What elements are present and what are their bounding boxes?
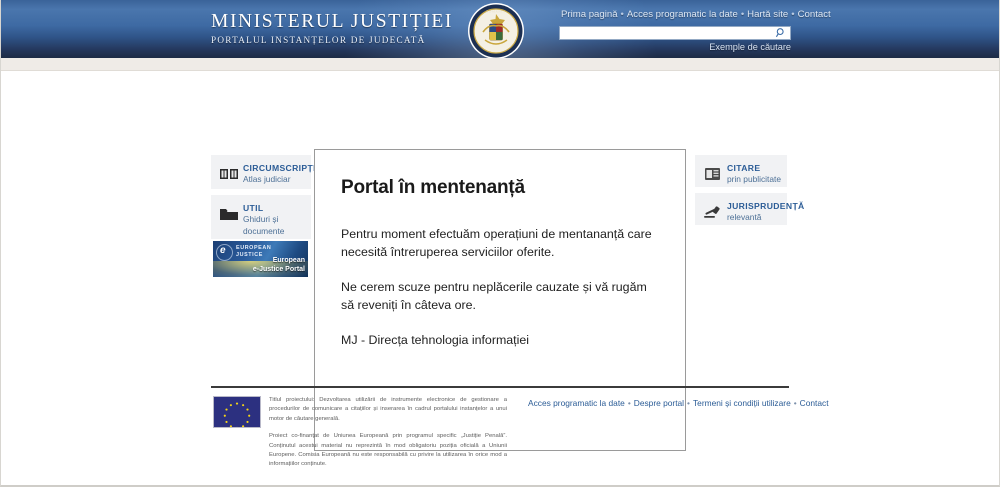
maintenance-paragraph-1: Pentru moment efectuăm operațiuni de men… (341, 225, 659, 261)
nav-separator: • (618, 9, 627, 20)
gavel-icon (703, 203, 723, 221)
footer-link-acces-programatic[interactable]: Acces programatic la date (528, 398, 625, 408)
sidebar-item-title: CIRCUMSCRIPȚII (243, 163, 319, 174)
nav-link-harta-site[interactable]: Hartă site (747, 9, 788, 20)
sidebar-item-circumscriptii[interactable]: CIRCUMSCRIPȚII Atlas judiciar (211, 155, 311, 189)
footer-paragraph-2: Proiect co-finanțat de Uniunea Europeană… (269, 432, 507, 470)
footer-project-text: Titlul proiectului: Dezvoltarea utilizăr… (269, 396, 507, 478)
footer-paragraph-1: Titlul proiectului: Dezvoltarea utilizăr… (269, 396, 507, 424)
nav-separator: • (788, 9, 797, 20)
footer-link-separator: • (791, 398, 800, 408)
sidebar-item-subtitle: Ghiduri și documente (243, 214, 301, 237)
document-citation-icon (703, 165, 723, 183)
sidebar-item-subtitle: Atlas judiciar (243, 174, 301, 186)
search-icon[interactable] (774, 27, 788, 39)
site-subtitle: PORTALUL INSTANȚELOR DE JUDECATĂ (211, 34, 453, 47)
sidebar-item-subtitle: relevantă (727, 212, 787, 224)
search-input[interactable] (560, 27, 772, 39)
search-examples-link[interactable]: Exemple de căutare (709, 42, 791, 52)
maintenance-signature: MJ - Direcța tehnologia informației (341, 331, 659, 349)
banner-caption-line2: e-Justice Portal (253, 266, 305, 273)
map-book-icon (219, 165, 239, 183)
search-box[interactable] (559, 26, 791, 40)
footer-link-despre-portal[interactable]: Despre portal (634, 398, 684, 408)
nav-link-contact[interactable]: Contact (798, 9, 831, 20)
nav-separator: • (738, 9, 747, 20)
top-navigation: Prima pagină•Acces programatic la date•H… (561, 9, 831, 20)
sidebar-item-title: CITARE (727, 163, 760, 174)
banner-e-letter: e (220, 245, 226, 257)
search-examples-hint: Exemple de căutare (561, 42, 791, 52)
footer-link-separator: • (625, 398, 634, 408)
european-union-flag-icon (213, 396, 261, 428)
site-brand[interactable]: MINISTERUL JUSTIȚIEI PORTALUL INSTANȚELO… (211, 11, 453, 47)
sidebar-item-citare[interactable]: CITARE prin publicitate (695, 155, 787, 187)
european-e-justice-banner[interactable]: e EUROPEANJUSTICE European e-Justice Por… (213, 241, 308, 277)
site-title: MINISTERUL JUSTIȚIEI (211, 11, 453, 33)
browser-page: MINISTERUL JUSTIȚIEI PORTALUL INSTANȚELO… (0, 0, 1000, 487)
svg-text:ROMANIA: ROMANIA (486, 10, 506, 14)
footer-link-separator: • (684, 398, 693, 408)
page-body: CIRCUMSCRIPȚII Atlas judiciar UTIL Ghidu… (1, 71, 999, 387)
site-header: MINISTERUL JUSTIȚIEI PORTALUL INSTANȚELO… (1, 0, 999, 58)
coat-of-arms-seal-icon: ROMANIA (467, 2, 525, 58)
footer-link-termeni[interactable]: Termeni și condiții utilizare (693, 398, 791, 408)
page-title: Portal în mentenanță (341, 177, 659, 199)
header-under-band (1, 58, 999, 71)
sidebar-item-title: JURISPRUDENȚĂ (727, 201, 805, 212)
maintenance-paragraph-2: Ne cerem scuze pentru neplăcerile cauzat… (341, 278, 659, 314)
banner-caption: European e-Justice Portal (253, 256, 305, 274)
footer-link-contact[interactable]: Contact (800, 398, 829, 408)
sidebar-item-subtitle: prin publicitate (727, 174, 785, 186)
folder-icon (219, 205, 239, 223)
sidebar-item-jurisprudenta[interactable]: JURISPRUDENȚĂ relevantă (695, 193, 787, 225)
banner-caption-line1: European (273, 257, 305, 264)
nav-link-prima-pagina[interactable]: Prima pagină (561, 9, 618, 20)
nav-link-acces-programatic[interactable]: Acces programatic la date (627, 9, 738, 20)
footer-divider (211, 386, 789, 388)
footer-links: Acces programatic la date•Despre portal•… (528, 398, 829, 408)
sidebar-item-title: UTIL (243, 203, 264, 214)
sidebar-item-util[interactable]: UTIL Ghiduri și documente (211, 195, 311, 239)
